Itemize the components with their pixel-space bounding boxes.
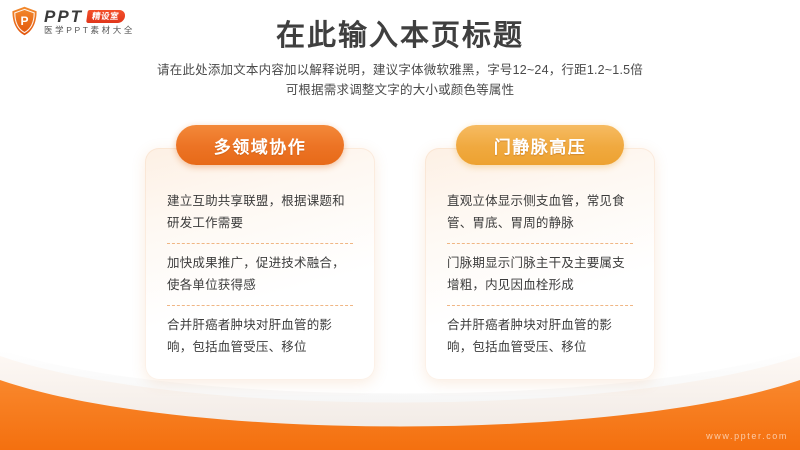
content-cards: 多领域协作 建立互助共享联盟，根据课题和研发工作需要 加快成果推广，促进技术融合…	[0, 148, 800, 380]
shield-letter: P	[20, 14, 28, 28]
card-portal-hypertension[interactable]: 门静脉高压 直观立体显示侧支血管，常见食管、胃底、胃周的静脉 门脉期显示门脉主干…	[425, 148, 655, 380]
card-badge-right[interactable]: 门静脉高压	[456, 125, 624, 165]
brand-logo[interactable]: P PPT 精设室 医学PPT素材大全	[11, 6, 135, 36]
logo-brand-text: PPT	[44, 8, 83, 25]
card-multidisciplinary-collaboration[interactable]: 多领域协作 建立互助共享联盟，根据课题和研发工作需要 加快成果推广，促进技术融合…	[145, 148, 375, 380]
card-left-item-2: 加快成果推广，促进技术融合，使各单位获得感	[167, 243, 353, 305]
card-left-items: 建立互助共享联盟，根据课题和研发工作需要 加快成果推广，促进技术融合，使各单位获…	[167, 182, 353, 367]
subtitle-line-1: 请在此处添加文本内容加以解释说明，建议字体微软雅黑，字号12~24，行距1.2~…	[0, 60, 800, 80]
card-badge-left[interactable]: 多领域协作	[176, 125, 344, 165]
subtitle-line-2: 可根据需求调整文字的大小或颜色等属性	[0, 80, 800, 100]
card-left-item-3: 合并肝癌者肿块对肝血管的影响，包括血管受压、移位	[167, 305, 353, 367]
site-watermark: www.ppter.com	[706, 431, 788, 441]
card-right-item-1: 直观立体显示侧支血管，常见食管、胃底、胃周的静脉	[447, 182, 633, 243]
page-subtitle: 请在此处添加文本内容加以解释说明，建议字体微软雅黑，字号12~24，行距1.2~…	[0, 60, 800, 100]
logo-badge: 精设室	[86, 10, 126, 23]
card-right-items: 直观立体显示侧支血管，常见食管、胃底、胃周的静脉 门脉期显示门脉主干及主要属支增…	[447, 182, 633, 367]
logo-primary-row: PPT 精设室	[44, 8, 135, 25]
card-right-item-2: 门脉期显示门脉主干及主要属支增粗，内见因血栓形成	[447, 243, 633, 305]
shield-icon: P	[11, 6, 38, 36]
logo-text-block: PPT 精设室 医学PPT素材大全	[44, 8, 135, 35]
logo-tagline: 医学PPT素材大全	[44, 26, 135, 35]
card-right-item-3: 合并肝癌者肿块对肝血管的影响，包括血管受压、移位	[447, 305, 633, 367]
slide-canvas: www.ppter.com P PPT 精设室 医学PPT素材大全 在此输入本页…	[0, 0, 800, 450]
card-left-item-1: 建立互助共享联盟，根据课题和研发工作需要	[167, 182, 353, 243]
